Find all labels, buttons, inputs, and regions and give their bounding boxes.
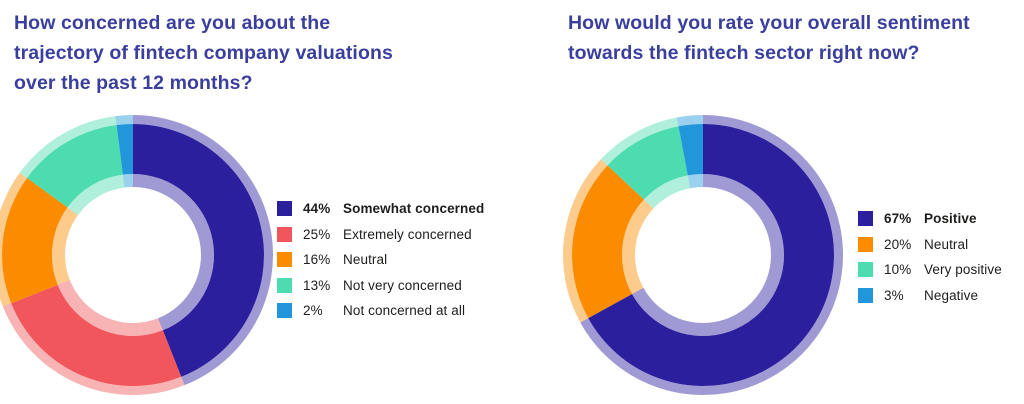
legend-overall-sentiment: 67%Positive20%Neutral10%Very positive3%N… xyxy=(858,208,1002,310)
legend-item: 2%Not concerned at all xyxy=(277,300,484,321)
legend-item: 20%Neutral xyxy=(858,234,1002,255)
donut-segment xyxy=(11,285,181,386)
legend-item: 13%Not very concerned xyxy=(277,275,484,296)
legend-item-label: Negative xyxy=(924,288,978,303)
panel-overall-sentiment: How would you rate your overall sentimen… xyxy=(540,0,1024,404)
legend-item-label: Somewhat concerned xyxy=(343,201,484,216)
legend-item-percent: 16% xyxy=(303,252,343,267)
donut-chart-concern-trajectory xyxy=(0,110,278,400)
legend-item: 16%Neutral xyxy=(277,249,484,270)
legend-item: 44%Somewhat concerned xyxy=(277,198,484,219)
donut-svg-overall-sentiment xyxy=(558,110,848,400)
donut-chart-overall-sentiment xyxy=(558,110,848,400)
legend-item-percent: 3% xyxy=(884,288,924,303)
panel-concern-trajectory: How concerned are you about the trajecto… xyxy=(0,0,540,404)
legend-swatch-extremely-concerned xyxy=(277,227,292,242)
legend-item-label: Not very concerned xyxy=(343,278,462,293)
legend-item-label: Not concerned at all xyxy=(343,303,465,318)
legend-swatch-neutral xyxy=(277,252,292,267)
legend-item: 25%Extremely concerned xyxy=(277,224,484,245)
legend-item-percent: 44% xyxy=(303,201,343,216)
legend-swatch-very-positive xyxy=(858,262,873,277)
legend-swatch-negative xyxy=(858,288,873,303)
legend-item-percent: 13% xyxy=(303,278,343,293)
page-title-overall-sentiment: How would you rate your overall sentimen… xyxy=(568,8,1024,68)
donut-inner-halo-segment xyxy=(688,174,703,188)
legend-item-label: Positive xyxy=(924,211,977,226)
legend-swatch-not-concerned-at-all xyxy=(277,303,292,318)
legend-item-percent: 25% xyxy=(303,227,343,242)
legend-swatch-somewhat-concerned xyxy=(277,201,292,216)
legend-swatch-positive xyxy=(858,211,873,226)
legend-item-label: Neutral xyxy=(343,252,387,267)
legend-item-label: Neutral xyxy=(924,237,968,252)
legend-item-label: Extremely concerned xyxy=(343,227,472,242)
page-title-concern-trajectory: How concerned are you about the trajecto… xyxy=(14,8,484,98)
legend-item-label: Very positive xyxy=(924,262,1002,277)
legend-item-percent: 67% xyxy=(884,211,924,226)
donut-svg-concern-trajectory xyxy=(0,110,278,400)
legend-item-percent: 2% xyxy=(303,303,343,318)
legend-swatch-neutral xyxy=(858,237,873,252)
legend-item-percent: 20% xyxy=(884,237,924,252)
legend-swatch-not-very-concerned xyxy=(277,278,292,293)
legend-item: 10%Very positive xyxy=(858,259,1002,280)
legend-item: 3%Negative xyxy=(858,285,1002,306)
legend-concern-trajectory: 44%Somewhat concerned25%Extremely concer… xyxy=(277,198,484,326)
donut-outer-halo-segment xyxy=(115,115,133,125)
legend-item: 67%Positive xyxy=(858,208,1002,229)
donut-inner-halo-segment xyxy=(123,174,133,188)
legend-item-percent: 10% xyxy=(884,262,924,277)
